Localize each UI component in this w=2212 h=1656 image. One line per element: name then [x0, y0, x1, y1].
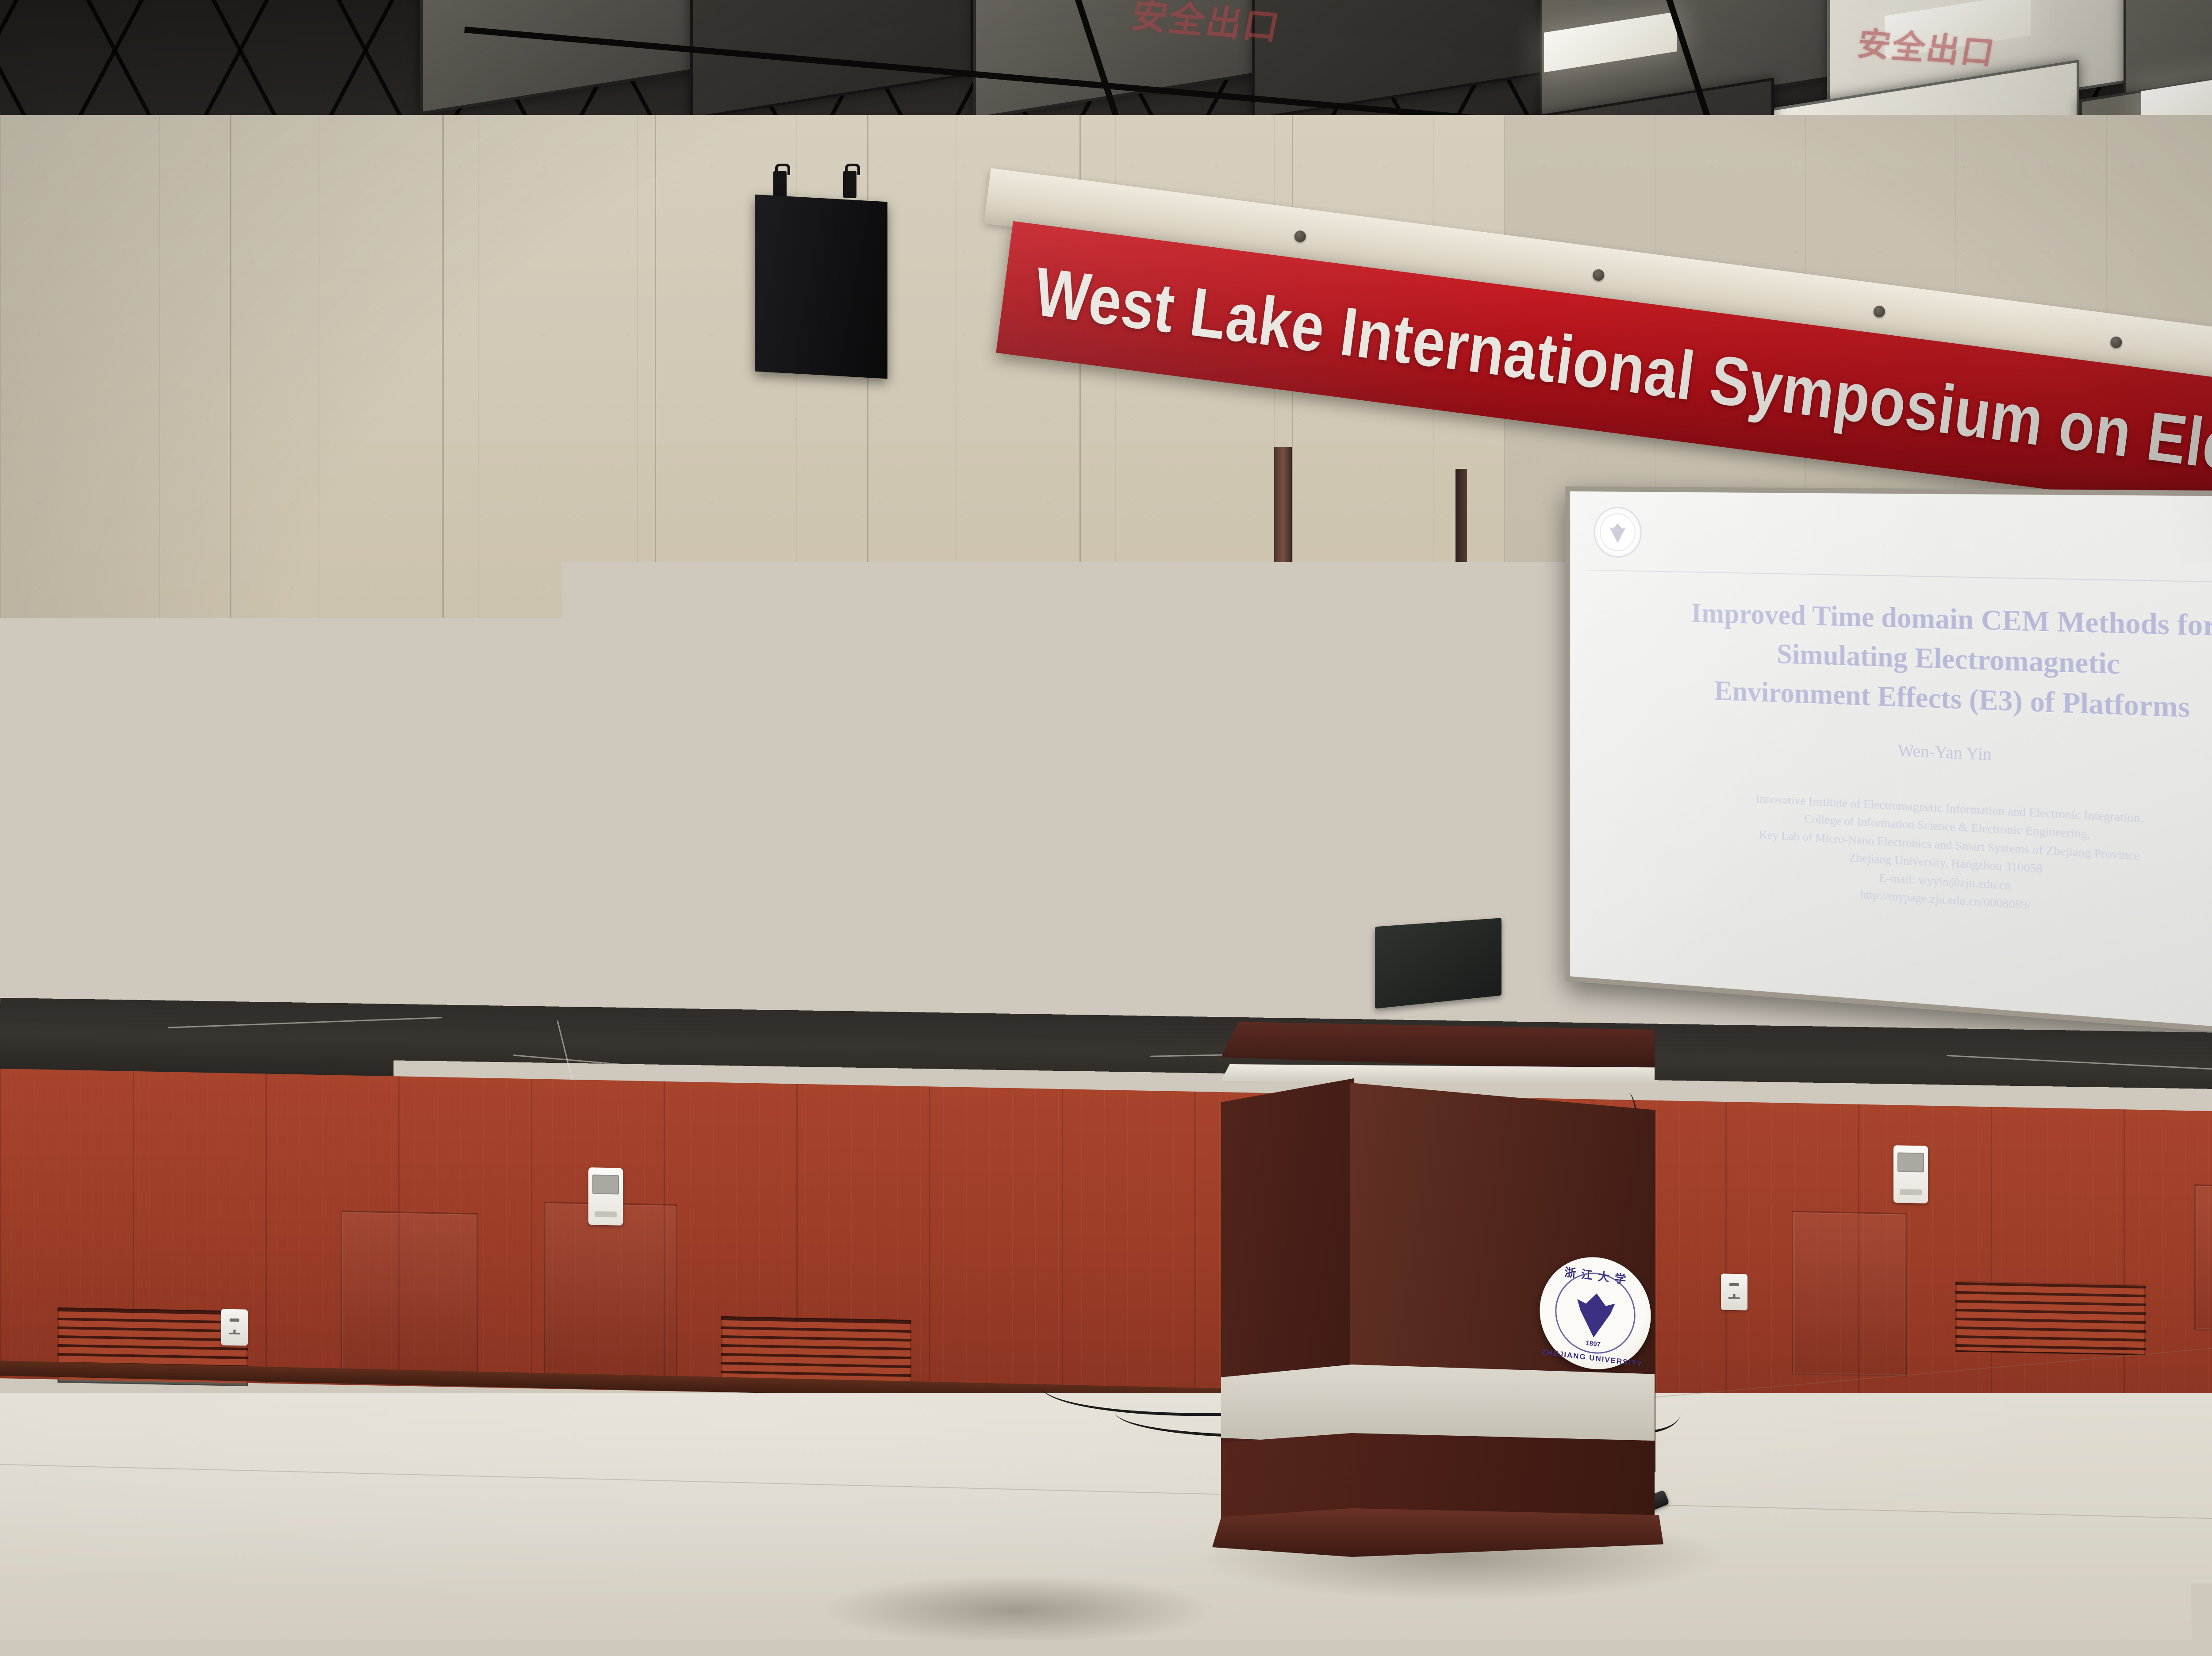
- slide-author: Wen-Yan Yin: [1570, 726, 2212, 781]
- lectern-podium: 浙江大学 1897 ZHEJIANG UNIVERSITY: [1221, 1022, 1655, 1570]
- wall-access-panel: [341, 1211, 478, 1386]
- cove-downlight: [1592, 268, 1605, 281]
- slide-divider: [1586, 570, 2212, 585]
- cove-downlight: [2110, 336, 2123, 349]
- wall-panel-seam: [442, 115, 444, 1044]
- door-jamb: [1274, 447, 1292, 1031]
- wall-speaker: [755, 195, 887, 379]
- power-outlet[interactable]: [221, 1309, 248, 1345]
- wall-panel-seam: [230, 115, 231, 1044]
- slide-affiliation-block: Innovative Institute of Electromagnetic …: [1586, 782, 2212, 935]
- eyeglass-lens-right: [991, 725, 1039, 753]
- photo-scene: 安全出口 安全出口 West Lake International Sympos…: [0, 0, 2212, 1656]
- eyeglass-lens-left: [923, 725, 971, 753]
- slide-title: Improved Time domain CEM Methods for Sim…: [1598, 592, 2212, 733]
- wall-access-panel: [2194, 1184, 2212, 1332]
- presentation-laptop[interactable]: [1375, 918, 1502, 1008]
- cove-downlight: [1873, 305, 1886, 318]
- thermostat-panel[interactable]: [1893, 1145, 1928, 1203]
- slide-surface: Improved Time domain CEM Methods for Sim…: [1570, 491, 2212, 1038]
- projection-screen: Improved Time domain CEM Methods for Sim…: [1565, 486, 2212, 1044]
- zhejiang-university-emblem-icon: 浙江大学 1897 ZHEJIANG UNIVERSITY: [1536, 1251, 1655, 1376]
- wall-access-panel: [1792, 1211, 1907, 1377]
- presenter-leg-left: [865, 1263, 980, 1647]
- speaker-mount-bracket: [773, 171, 787, 198]
- cove-downlight: [1294, 230, 1306, 243]
- emergency-exit-sign-right: 安全出口: [1854, 18, 2000, 74]
- wall-panel-seam: [655, 115, 656, 1044]
- zhejiang-university-seal-icon: [1594, 507, 1642, 558]
- marble-vein: [168, 1017, 442, 1028]
- wall-access-panel: [544, 1202, 677, 1381]
- speaker-mount-bracket: [843, 171, 856, 198]
- presenter-mouth: [961, 778, 1008, 797]
- power-outlet[interactable]: [1721, 1273, 1747, 1310]
- marble-vein: [513, 1054, 725, 1074]
- podium-base-plinth: [1212, 1508, 1663, 1557]
- podium-light-band: [1221, 1365, 1655, 1444]
- thermostat-panel[interactable]: [588, 1167, 623, 1225]
- presenter-leg-right: [972, 1263, 1093, 1648]
- presenter: [787, 659, 1186, 1656]
- marble-vein: [1947, 1055, 2212, 1072]
- emblem-chinese-name: 浙江大学: [1542, 1261, 1654, 1291]
- ventilation-grille: [1955, 1281, 2146, 1355]
- presenter-nose: [967, 743, 995, 776]
- eyeglass-bridge: [970, 735, 992, 737]
- podium-top-surface: [1221, 1022, 1655, 1071]
- podium-lip: [1221, 1064, 1655, 1085]
